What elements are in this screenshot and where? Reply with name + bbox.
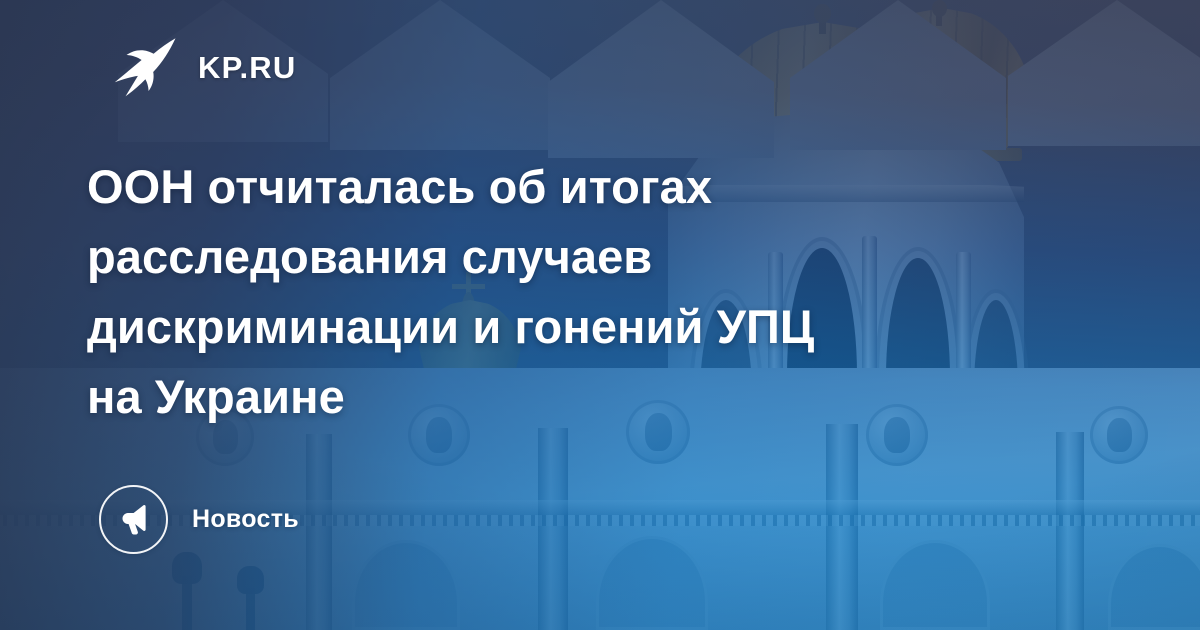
- news-share-card: KP.RU ООН отчиталась об итогах расследов…: [0, 0, 1200, 630]
- brand-logo[interactable]: KP.RU: [112, 36, 296, 98]
- swallow-bird-icon: [112, 36, 178, 98]
- badge-circle: [99, 485, 168, 554]
- brand-name: KP.RU: [198, 52, 296, 83]
- megaphone-icon: [117, 503, 151, 537]
- card-content: KP.RU ООН отчиталась об итогах расследов…: [0, 0, 1200, 630]
- badge-label: Новость: [192, 505, 299, 534]
- page-title: ООН отчиталась об итогах расследования с…: [87, 152, 1047, 432]
- status-badge[interactable]: Новость: [99, 485, 299, 554]
